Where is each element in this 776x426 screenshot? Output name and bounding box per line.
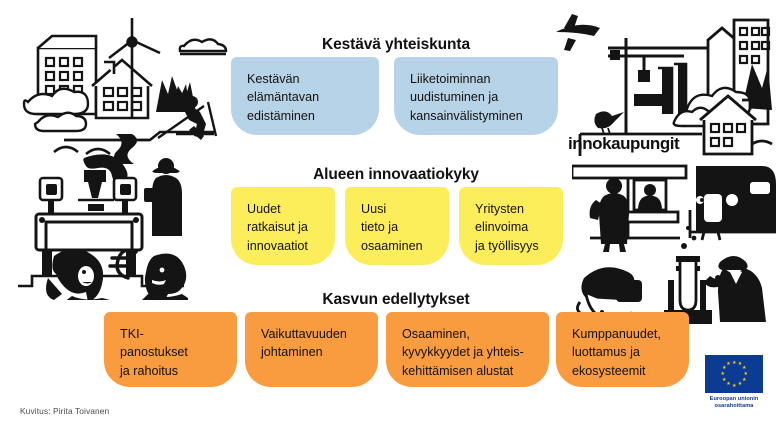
card-line: innovaatiot bbox=[247, 237, 321, 255]
eu-star-icon: ★ bbox=[721, 372, 725, 376]
eu-star-icon: ★ bbox=[742, 378, 746, 382]
eu-badge-caption: Euroopan unionin osarahoittama bbox=[700, 396, 768, 410]
card-line: ekosysteemit bbox=[572, 362, 675, 380]
card-line: panostukset bbox=[120, 343, 223, 361]
eu-caption-line-1: Euroopan unionin bbox=[700, 396, 768, 403]
card-line: ratkaisut ja bbox=[247, 218, 321, 236]
innokaupungit-logo-text: innokaupungit bbox=[568, 134, 679, 154]
eu-cofunded-badge: ★★★★★★★★★★★★ Euroopan unionin osarahoitt… bbox=[700, 355, 768, 410]
eu-star-icon: ★ bbox=[732, 384, 736, 388]
card-business-renewal[interactable]: Liiketoiminnan uudistuminen ja kansainvä… bbox=[394, 57, 558, 135]
card-impact-management[interactable]: Vaikuttavuuden johtaminen bbox=[245, 312, 378, 387]
card-line: ja työllisyys bbox=[475, 237, 549, 255]
card-line: TKI- bbox=[120, 325, 223, 343]
card-line: Vaikuttavuuden bbox=[261, 325, 364, 343]
card-company-vitality[interactable]: Yritysten elinvoima ja työllisyys bbox=[459, 187, 563, 265]
illustration-credit: Kuvitus: Pirita Toivanen bbox=[20, 406, 109, 416]
eu-star-icon: ★ bbox=[732, 361, 736, 365]
eu-star-icon: ★ bbox=[738, 382, 742, 386]
illustration-top-left-city-scene bbox=[8, 6, 230, 164]
eu-caption-line-2: osarahoittama bbox=[700, 403, 768, 410]
card-rdi-investments[interactable]: TKI- panostukset ja rahoitus bbox=[104, 312, 237, 387]
card-line: luottamus ja bbox=[572, 343, 675, 361]
card-line: Kumppanuudet, bbox=[572, 325, 675, 343]
card-line: elämäntavan bbox=[247, 88, 365, 106]
card-sustainable-lifestyle[interactable]: Kestävän elämäntavan edistäminen bbox=[231, 57, 379, 135]
card-line: kyvykkyydet ja yhteis- bbox=[402, 343, 535, 361]
card-line: Kestävän bbox=[247, 70, 365, 88]
card-new-solutions[interactable]: Uudet ratkaisut ja innovaatiot bbox=[231, 187, 335, 265]
card-line: ja rahoitus bbox=[120, 362, 223, 380]
card-line: johtaminen bbox=[261, 343, 364, 361]
eu-star-icon: ★ bbox=[726, 362, 730, 366]
card-line: kansainvälistyminen bbox=[410, 107, 544, 125]
section-title-sustainable-society: Kestävä yhteiskunta bbox=[228, 36, 564, 54]
card-line: Yritysten bbox=[475, 200, 549, 218]
card-line: tieto ja bbox=[361, 218, 435, 236]
card-line: edistäminen bbox=[247, 107, 365, 125]
eu-star-icon: ★ bbox=[722, 378, 726, 382]
card-line: Uusi bbox=[361, 200, 435, 218]
card-line: Liiketoiminnan bbox=[410, 70, 544, 88]
eu-flag-icon: ★★★★★★★★★★★★ bbox=[705, 355, 763, 393]
eu-star-icon: ★ bbox=[744, 372, 748, 376]
section-title-growth-prerequisites: Kasvun edellytykset bbox=[228, 291, 564, 309]
infographic-canvas: Kestävä yhteiskunta Kestävän elämäntavan… bbox=[0, 0, 776, 426]
eu-star-icon: ★ bbox=[742, 366, 746, 370]
illustration-bottom-right-services-scene bbox=[572, 160, 776, 330]
card-line: kehittämisen alustat bbox=[402, 362, 535, 380]
card-new-knowledge[interactable]: Uusi tieto ja osaaminen bbox=[345, 187, 449, 265]
card-competence-platforms[interactable]: Osaaminen, kyvykkyydet ja yhteis- kehitt… bbox=[386, 312, 549, 387]
card-line: Osaaminen, bbox=[402, 325, 535, 343]
card-line: osaaminen bbox=[361, 237, 435, 255]
section-title-regional-innovation-capacity: Alueen innovaatiokyky bbox=[228, 166, 564, 184]
card-line: elinvoima bbox=[475, 218, 549, 236]
card-line: Uudet bbox=[247, 200, 321, 218]
card-partnerships-ecosystems[interactable]: Kumppanuudet, luottamus ja ekosysteemit bbox=[556, 312, 689, 387]
illustration-mid-left-industry-scene bbox=[14, 152, 222, 300]
card-line: uudistuminen ja bbox=[410, 88, 544, 106]
